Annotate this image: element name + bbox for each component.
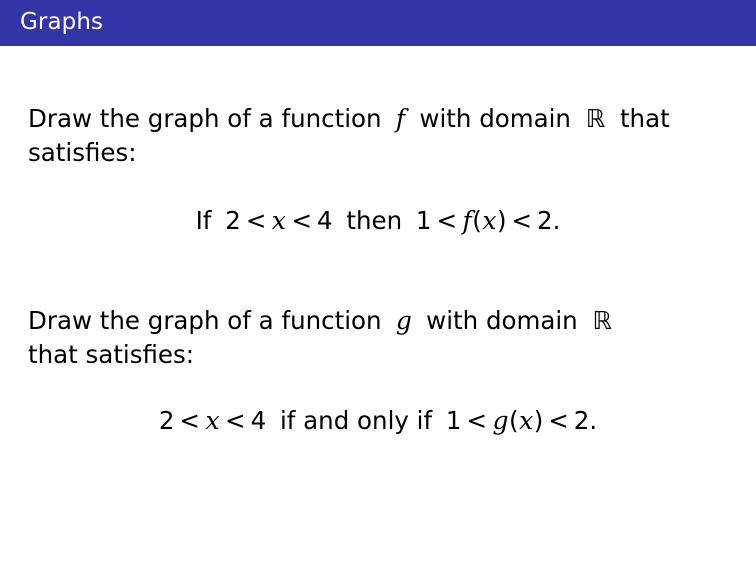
eq1-left-upper: 4 — [317, 206, 333, 235]
eq1-period: . — [553, 206, 561, 235]
eq1-close-paren: ) — [497, 206, 507, 235]
eq2-open-paren: ( — [509, 406, 519, 435]
eq2-period: . — [589, 406, 597, 435]
display-equation-f: If 2<x<4 then 1<f(x)<2. — [28, 204, 728, 238]
function-symbol-g: g — [395, 306, 412, 335]
eq2-variable-x: x — [205, 406, 220, 435]
eq1-function-name-f: f — [462, 206, 472, 235]
paragraph-1-mid: with domain — [419, 104, 571, 133]
eq2-left-upper: 4 — [251, 406, 267, 435]
eq2-right-lower: 1 — [446, 406, 462, 435]
slide-title-bar: Graphs — [0, 0, 756, 46]
presentation-slide: Graphs Draw the graph of a function f wi… — [0, 0, 756, 567]
eq1-relation-1: < — [241, 206, 272, 235]
eq2-function-argument-x: x — [519, 406, 534, 435]
eq2-right-upper: 2 — [574, 406, 590, 435]
slide-body: Draw the graph of a function f with doma… — [0, 46, 756, 567]
eq1-right-lower: 1 — [416, 206, 432, 235]
eq1-function-argument-x: x — [482, 206, 497, 235]
eq2-relation-4: < — [543, 406, 574, 435]
eq1-prefix: If — [196, 206, 212, 235]
paragraph-2-mid: with domain — [426, 306, 578, 335]
eq2-left-lower: 2 — [159, 406, 175, 435]
eq2-connector: if and only if — [280, 406, 432, 435]
domain-symbol-reals: ℝ — [585, 104, 606, 133]
paragraph-draw-graph-g: Draw the graph of a function g with doma… — [28, 304, 674, 372]
paragraph-draw-graph-f: Draw the graph of a function f with doma… — [28, 102, 674, 170]
eq2-relation-1: < — [174, 406, 205, 435]
display-equation-g: 2<x<4 if and only if 1<g(x)<2. — [28, 404, 728, 438]
eq1-open-paren: ( — [472, 206, 482, 235]
eq1-left-lower: 2 — [225, 206, 241, 235]
domain-symbol-reals-2: ℝ — [592, 306, 613, 335]
eq1-connector: then — [346, 206, 402, 235]
frame-title: Graphs — [0, 11, 103, 34]
eq2-relation-3: < — [462, 406, 493, 435]
eq2-function-name-g: g — [492, 406, 509, 435]
paragraph-2-lead: Draw the graph of a function — [28, 306, 382, 335]
eq1-right-upper: 2 — [537, 206, 553, 235]
eq2-close-paren: ) — [534, 406, 544, 435]
paragraph-1-lead: Draw the graph of a function — [28, 104, 382, 133]
eq2-relation-2: < — [220, 406, 251, 435]
eq1-relation-4: < — [507, 206, 538, 235]
function-symbol-f: f — [395, 104, 405, 133]
eq1-relation-2: < — [286, 206, 317, 235]
eq1-relation-3: < — [432, 206, 463, 235]
eq1-variable-x: x — [271, 206, 286, 235]
paragraph-2-tail: that satisfies: — [28, 340, 194, 369]
